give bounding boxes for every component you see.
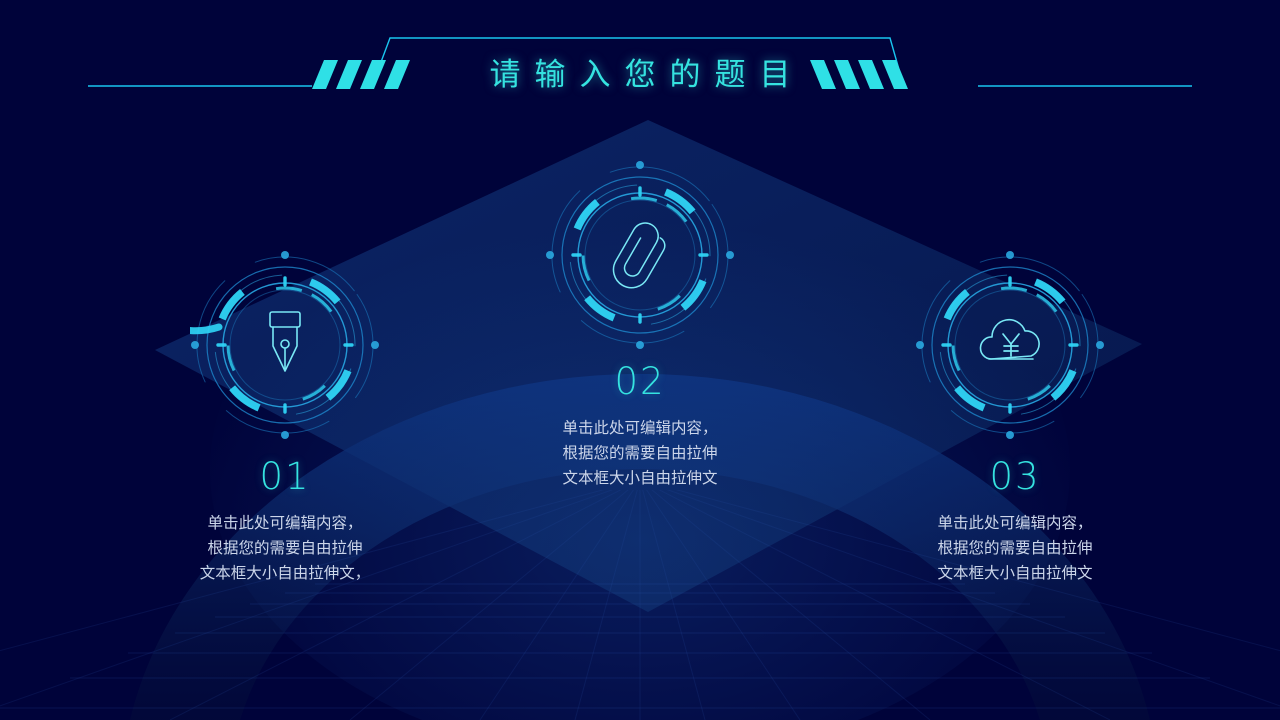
page-title: 请输入您的题目 [0,49,1280,94]
pen-nib-icon [270,312,300,371]
badge-03[interactable] [915,250,1105,440]
item-03: 03 单击此处可编辑内容， 根据您的需要自由拉伸 文本框大小自由拉伸文 [865,455,1165,586]
item-body-text: 单击此处可编辑内容， 根据您的需要自由拉伸 文本框大小自由拉伸文， [135,511,435,586]
item-number: 01 [135,455,435,499]
badge-01[interactable] [190,250,380,440]
item-02: 02 单击此处可编辑内容， 根据您的需要自由拉伸 文本框大小自由拉伸文 [490,360,790,491]
item-body-text: 单击此处可编辑内容， 根据您的需要自由拉伸 文本框大小自由拉伸文 [865,511,1165,586]
item-number: 03 [865,455,1165,499]
item-number: 02 [490,360,790,404]
item-01: 01 单击此处可编辑内容， 根据您的需要自由拉伸 文本框大小自由拉伸文， [135,455,435,586]
cloud-yuan-icon [980,320,1039,359]
paperclip-icon [607,218,672,294]
item-body-text: 单击此处可编辑内容， 根据您的需要自由拉伸 文本框大小自由拉伸文 [490,416,790,491]
badge-02[interactable] [545,160,735,350]
slide-header: 请输入您的题目 [0,0,1280,120]
